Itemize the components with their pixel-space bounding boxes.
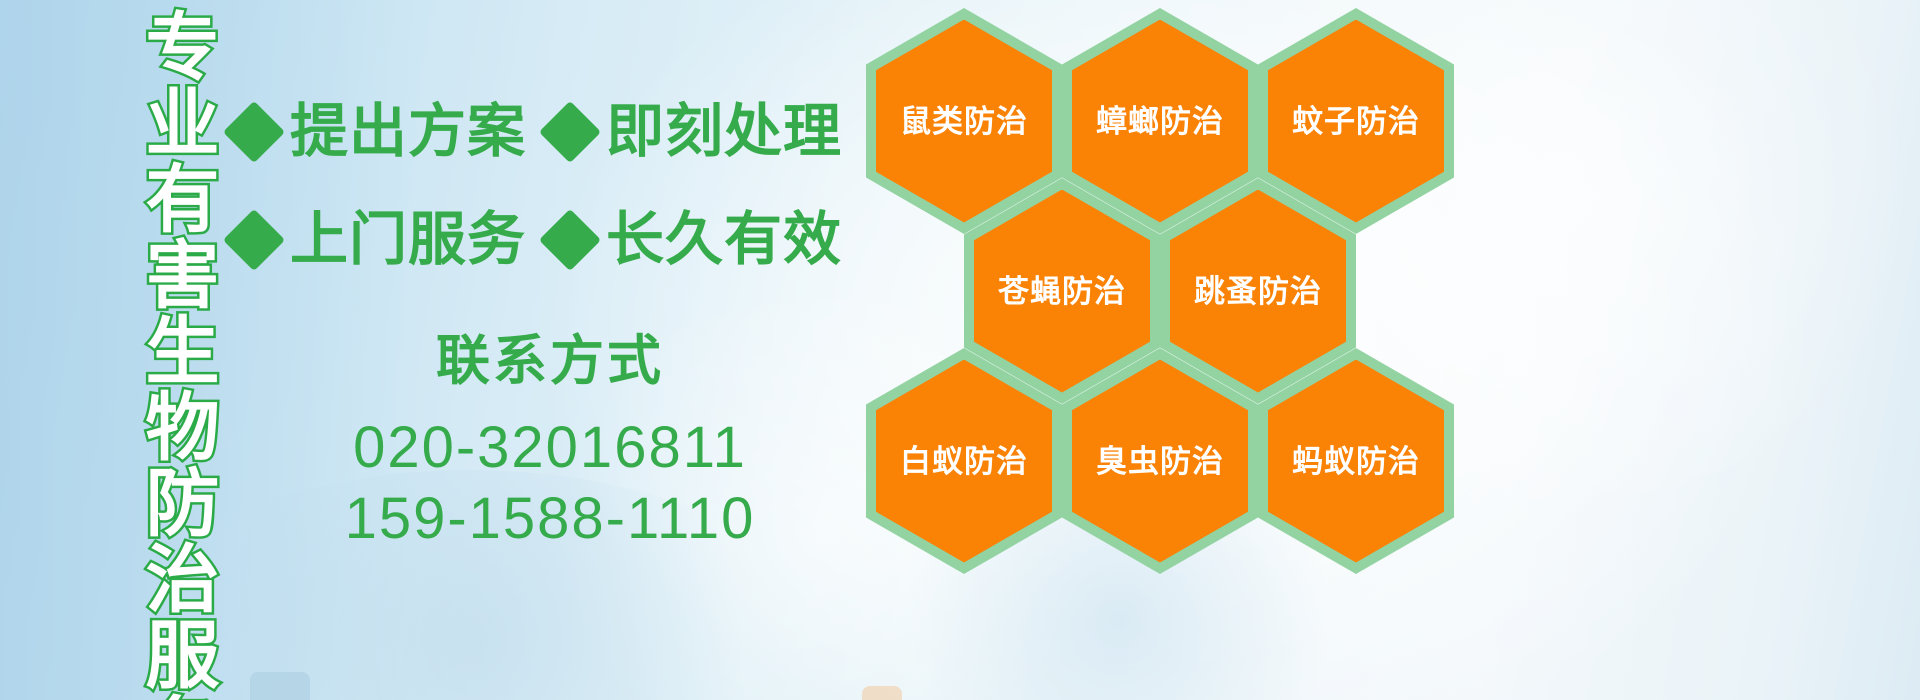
hex-inner: 蚊子防治 — [1268, 20, 1444, 223]
hex-inner: 跳蚤防治 — [1170, 190, 1346, 393]
pest-control-banner: 专业有害生物防治服务 提出方案 即刻处理 上门服务 长久有效 联系方式 — [0, 0, 1920, 700]
diamond-icon — [223, 101, 285, 163]
feature-label: 长久有效 — [606, 211, 842, 269]
hex-inner: 白蚁防治 — [876, 360, 1052, 563]
contact-title: 联系方式 — [300, 316, 800, 395]
feature-list: 提出方案 即刻处理 上门服务 长久有效 — [232, 78, 872, 294]
diamond-icon — [539, 209, 601, 271]
feature-row: 提出方案 即刻处理 — [232, 78, 872, 186]
diamond-icon — [223, 209, 285, 271]
hex-label: 蚊子防治 — [1292, 106, 1420, 137]
hex-label: 跳蚤防治 — [1194, 276, 1322, 307]
diamond-icon — [539, 101, 601, 163]
hex-label: 白蚁防治 — [900, 446, 1028, 477]
hex-inner: 苍蝇防治 — [974, 190, 1150, 393]
hex-inner: 蚂蚁防治 — [1268, 360, 1444, 563]
feature-label: 提出方案 — [290, 103, 526, 161]
feature-item-door-to-door-service: 上门服务 — [232, 211, 526, 269]
vertical-headline: 专业有害生物防治服务 — [108, 8, 214, 692]
hex-label: 蟑螂防治 — [1096, 106, 1224, 137]
hex-inner: 臭虫防治 — [1072, 360, 1248, 563]
contact-phone-landline[interactable]: 020-32016811 — [300, 413, 800, 484]
hex-label: 苍蝇防治 — [998, 276, 1126, 307]
feature-label: 即刻处理 — [606, 103, 842, 161]
hex-inner: 鼠类防治 — [876, 20, 1052, 223]
hex-label: 臭虫防治 — [1096, 446, 1224, 477]
feature-row: 上门服务 长久有效 — [232, 186, 872, 294]
service-honeycomb: 鼠类防治 蟑螂防治 蚊子防治 苍蝇防治 跳蚤防治 白蚁防治 — [856, 0, 1476, 700]
hex-inner: 蟑螂防治 — [1072, 20, 1248, 223]
feature-item-immediate-handling: 即刻处理 — [548, 103, 842, 161]
contact-block: 联系方式 020-32016811 159-1588-1110 — [300, 316, 800, 555]
background-motif-blue — [250, 672, 310, 700]
hex-label: 蚂蚁防治 — [1292, 446, 1420, 477]
feature-item-propose-plan: 提出方案 — [232, 103, 526, 161]
hex-label: 鼠类防治 — [900, 106, 1028, 137]
feature-label: 上门服务 — [290, 211, 526, 269]
contact-phone-mobile[interactable]: 159-1588-1110 — [300, 484, 800, 555]
feature-item-long-lasting-effect: 长久有效 — [548, 211, 842, 269]
